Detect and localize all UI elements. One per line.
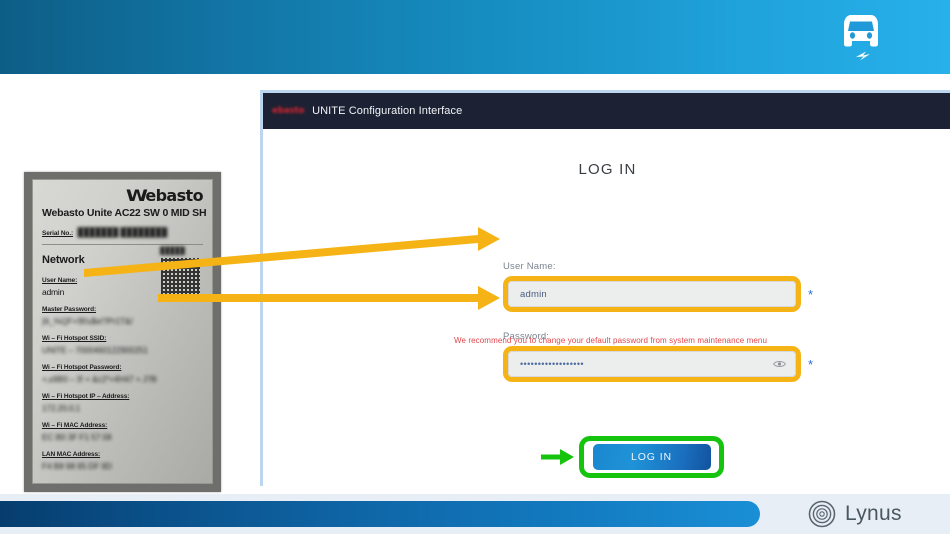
lynus-brand: Lynus: [808, 500, 902, 528]
label-row: Master Password: }6_%QF+!B!u$e!?Pr1T&/: [42, 298, 203, 326]
label-row: Wi – Fi Hotspot IP – Address: 172.20.0.1: [42, 385, 203, 413]
username-highlight-box: admin: [503, 276, 801, 312]
login-button-highlight-box: LOG IN: [579, 436, 724, 478]
label-value-wifi-mac: EC B0 3F F1 57 08: [42, 432, 203, 442]
label-row: Serial No.: ███████ ████████: [42, 222, 203, 240]
username-required-marker: *: [808, 288, 813, 301]
label-key-serial: Serial No.:: [42, 230, 73, 237]
label-qr-code: [161, 258, 200, 297]
device-label-photo: Webasto Webasto Unite AC22 SW 0 MID SH S…: [24, 172, 221, 492]
username-input[interactable]: admin: [508, 281, 796, 307]
username-field-group: User Name: admin *: [503, 261, 813, 312]
app-header-bar: ebasto UNITE Configuration Interface: [263, 93, 950, 129]
label-model-line: Webasto Unite AC22 SW 0 MID SH: [42, 207, 203, 219]
label-value-hotspot-ssid: UNITE – 7000460122900251: [42, 345, 203, 355]
password-highlight-box: ••••••••••••••••••: [503, 346, 801, 382]
password-masked-value: ••••••••••••••••••: [520, 360, 584, 369]
slide-top-banner: [0, 0, 950, 74]
label-row: Wi – Fi Hotspot Password: +,s9B0 – 3! + …: [42, 356, 203, 384]
car-charging-icon: [830, 8, 892, 66]
label-key-network: Network: [42, 254, 85, 266]
password-input[interactable]: ••••••••••••••••••: [508, 351, 796, 377]
label-row: Wi – Fi MAC Address: EC B0 3F F1 57 08: [42, 414, 203, 442]
username-label: User Name:: [503, 261, 813, 272]
app-title: UNITE Configuration Interface: [312, 105, 462, 117]
label-row: LAN MAC Address: F4 B8 98 95 DF 9D: [42, 443, 203, 471]
eye-icon[interactable]: [773, 360, 786, 369]
webasto-w-symbol: W: [126, 188, 147, 204]
label-key-hotspot-ip: Wi – Fi Hotspot IP – Address:: [42, 393, 129, 400]
label-key-username: User Name:: [42, 277, 77, 284]
label-divider: [42, 244, 203, 245]
label-qr-caption: █████: [160, 248, 200, 257]
password-row: •••••••••••••••••• *: [503, 346, 813, 382]
username-row: admin *: [503, 276, 813, 312]
concentric-circles-logo-icon: [808, 500, 836, 528]
label-key-hotspot-ssid: Wi – Fi Hotspot SSID:: [42, 335, 106, 342]
label-value-hotspot-ip: 172.20.0.1: [42, 403, 203, 413]
label-key-master-password: Master Password:: [42, 306, 96, 313]
password-required-marker: *: [808, 358, 813, 371]
login-form: User Name: admin * Password: •••••••••••…: [503, 261, 813, 401]
slide-bottom-bar: [0, 501, 760, 527]
page-title: LOG IN: [263, 161, 950, 178]
device-rating-label: Webasto Webasto Unite AC22 SW 0 MID SH S…: [32, 179, 213, 484]
login-button[interactable]: LOG IN: [593, 444, 711, 470]
label-value-hotspot-password: +,s9B0 – 3! + &c2*=4H47 + J?B: [42, 374, 203, 384]
label-value-master-password: }6_%QF+!B!u$e!?Pr1T&/: [42, 316, 203, 326]
unite-config-window: ebasto UNITE Configuration Interface LOG…: [260, 90, 950, 486]
label-value-lan-mac: F4 B8 98 95 DF 9D: [42, 461, 203, 471]
label-key-wifi-mac: Wi – Fi MAC Address:: [42, 422, 107, 429]
label-value-serial: ███████ ████████: [78, 227, 168, 237]
login-page-body: LOG IN User Name: admin * Password: ••••…: [263, 161, 950, 515]
password-change-warning: We recommend you to change your default …: [263, 336, 950, 345]
label-row: Wi – Fi Hotspot SSID: UNITE – 7000460122…: [42, 327, 203, 355]
lynus-brand-text: Lynus: [845, 502, 902, 526]
label-key-lan-mac: LAN MAC Address:: [42, 451, 100, 458]
arrow-pointing-to-login-button: [541, 447, 575, 467]
webasto-logo-on-label: Webasto: [42, 188, 203, 204]
webasto-logo-icon: ebasto: [272, 106, 304, 116]
webasto-logo-text: ebasto: [145, 186, 203, 205]
label-key-hotspot-password: Wi – Fi Hotspot Password:: [42, 364, 121, 371]
